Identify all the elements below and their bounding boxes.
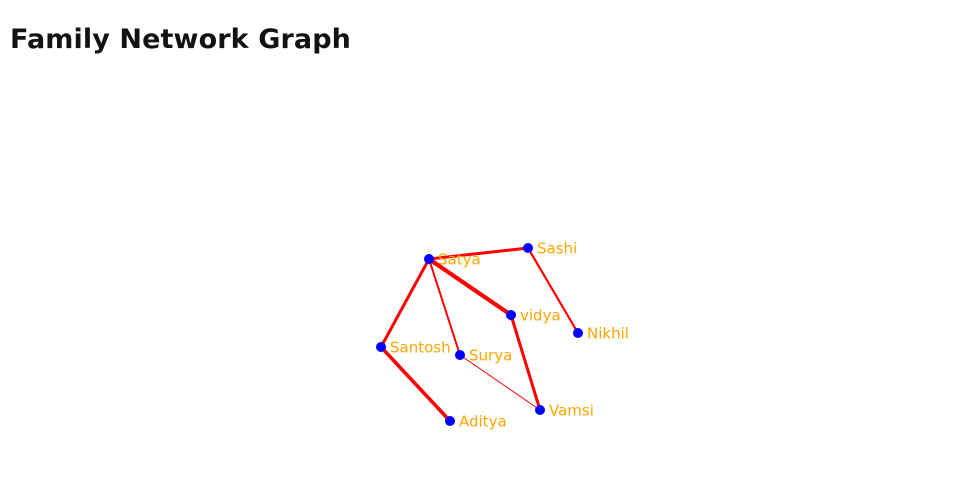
graph-edge <box>381 259 429 347</box>
graph-nodes-layer <box>376 243 583 426</box>
graph-node-label: Satya <box>438 251 481 269</box>
graph-node[interactable] <box>424 254 434 264</box>
graph-node[interactable] <box>506 310 516 320</box>
graph-node[interactable] <box>445 416 455 426</box>
graph-labels-layer: SatyaSashividyaNikhilSantoshSuryaAdityaV… <box>390 240 629 431</box>
graph-node[interactable] <box>455 350 465 360</box>
graph-node[interactable] <box>573 328 583 338</box>
network-graph-canvas: SatyaSashividyaNikhilSantoshSuryaAdityaV… <box>0 0 960 500</box>
graph-node[interactable] <box>376 342 386 352</box>
graph-node[interactable] <box>535 405 545 415</box>
graph-edge <box>381 347 450 421</box>
graph-edges-layer <box>381 248 578 421</box>
graph-node-label: Surya <box>469 347 512 365</box>
graph-node-label: Sashi <box>537 240 577 258</box>
graph-node-label: Vamsi <box>549 402 594 420</box>
graph-node[interactable] <box>523 243 533 253</box>
graph-edge <box>511 315 540 410</box>
family-network-graph-figure: Family Network Graph SatyaSashividyaNikh… <box>0 0 960 500</box>
graph-node-label: Santosh <box>390 339 451 357</box>
graph-node-label: Nikhil <box>587 325 629 343</box>
graph-node-label: Aditya <box>459 413 507 431</box>
graph-node-label: vidya <box>520 307 561 325</box>
